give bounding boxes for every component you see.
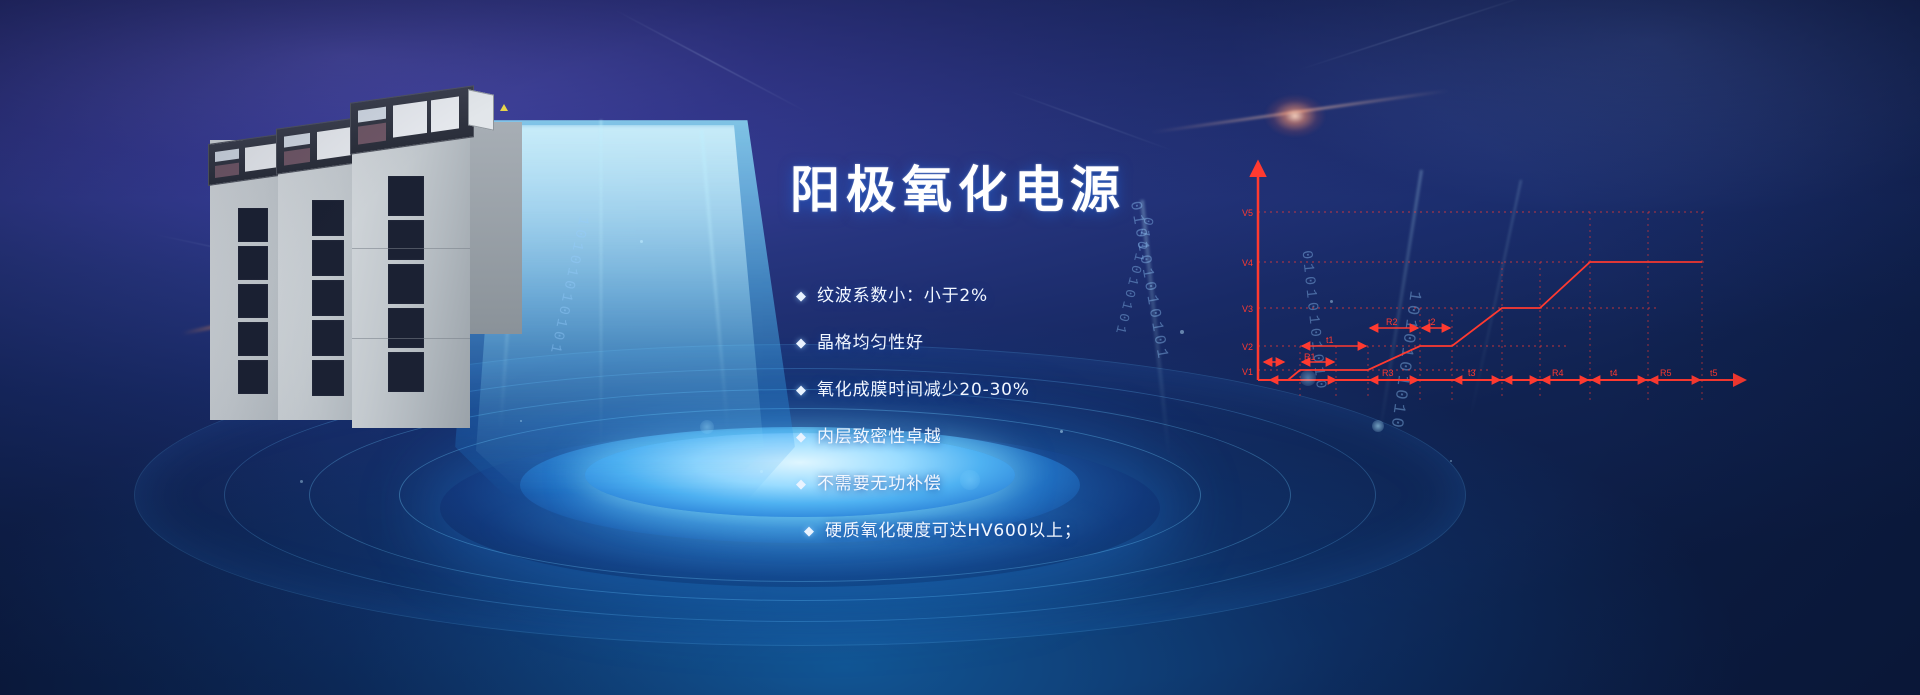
banner-stage: 10101010101 010101010101 1010101010 0101… [0,0,1920,695]
background-vignette [0,0,1920,695]
